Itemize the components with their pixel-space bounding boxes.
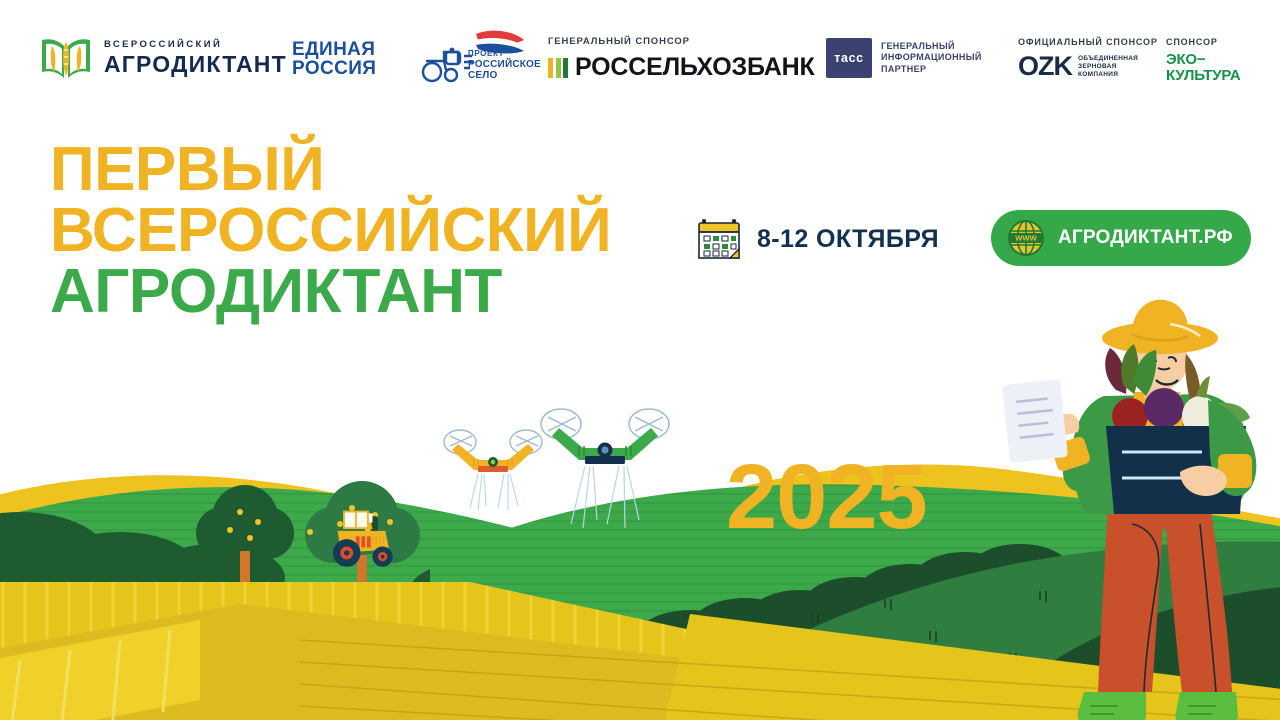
event-date: 8-12 ОКТЯБРЯ	[697, 216, 939, 262]
rosselkhozbank-bars-icon	[548, 58, 568, 78]
ecoculture-logo[interactable]: СПОНСОР ЭКО− КУЛЬТУРА	[1166, 37, 1241, 83]
rosselkhozbank-superline: ГЕНЕРАЛЬНЫЙ СПОНСОР	[548, 36, 815, 47]
agrodiktant-logo[interactable]: ВСЕРОССИЙСКИЙ АГРОДИКТАНТ	[38, 32, 287, 84]
headline-line3: АГРОДИКТАНТ	[50, 262, 611, 323]
svg-text:WWW: WWW	[1015, 234, 1037, 243]
ozk-line1: ОБЪЕДИНЕННАЯ	[1078, 55, 1138, 63]
russian-village-line2: РОССИЙСКОЕ	[468, 59, 541, 70]
tass-badge-label: тасс	[834, 51, 863, 65]
ozk-superline: ОФИЦИАЛЬНЫЙ СПОНСОР	[1018, 37, 1158, 47]
agrodiktant-superline: ВСЕРОССИЙСКИЙ	[104, 40, 287, 50]
ozk-logo[interactable]: ОФИЦИАЛЬНЫЙ СПОНСОР OZK ОБЪЕДИНЕННАЯ ЗЕР…	[1018, 37, 1158, 80]
russian-village-line1: ПРОЕКТ	[468, 50, 541, 59]
headline-line1: ПЕРВЫЙ	[50, 140, 611, 201]
agrodiktant-wordmark: АГРОДИКТАНТ	[104, 53, 287, 76]
tractor-illustration	[333, 511, 393, 567]
yellow-drone-illustration	[444, 430, 542, 510]
ecoculture-line2: КУЛЬТУРА	[1166, 68, 1241, 84]
poster-root: 2025 ВСЕРОССИЙСКИЙ АГРОДИКТАН	[0, 0, 1280, 720]
sponsor-bar: ВСЕРОССИЙСКИЙ АГРОДИКТАНТ ЕДИНАЯ РОССИЯ	[0, 0, 1280, 108]
rosselkhozbank-logo[interactable]: ГЕНЕРАЛЬНЫЙ СПОНСОР РОССЕЛЬХОЗБАНК	[548, 36, 815, 82]
landscape-illustration	[0, 0, 1280, 720]
ecoculture-line1: ЭКО−	[1166, 52, 1241, 68]
open-book-wheat-icon	[38, 32, 94, 84]
event-date-text: 8-12 ОКТЯБРЯ	[757, 225, 939, 254]
russian-village-project-logo[interactable]: ПРОЕКТ РОССИЙСКОЕ СЕЛО	[420, 30, 538, 92]
globe-www-icon: WWW	[1007, 219, 1045, 257]
website-button[interactable]: WWW АГРОДИКТАНТ.РФ	[991, 210, 1251, 266]
tass-line1: ГЕНЕРАЛЬНЫЙ	[881, 41, 982, 53]
year-label: 2025	[726, 445, 927, 550]
ozk-line3: КОМПАНИЯ	[1078, 71, 1138, 79]
calendar-icon	[697, 216, 741, 262]
united-russia-line2: РОССИЯ	[292, 59, 376, 78]
ozk-line2: ЗЕРНОВАЯ	[1078, 63, 1138, 71]
tass-line3: ПАРТНЕР	[881, 64, 982, 76]
rosselkhozbank-wordmark: РОССЕЛЬХОЗБАНК	[575, 53, 815, 82]
page-title: ПЕРВЫЙ ВСЕРОССИЙСКИЙ АГРОДИКТАНТ	[50, 140, 611, 322]
tass-badge: тасс	[826, 38, 872, 78]
russian-village-line3: СЕЛО	[468, 70, 541, 81]
tass-line2: ИНФОРМАЦИОННЫЙ	[881, 52, 982, 64]
ozk-wordmark: OZK	[1018, 53, 1072, 80]
ecoculture-superline: СПОНСОР	[1166, 37, 1241, 47]
headline-line2: ВСЕРОССИЙСКИЙ	[50, 201, 611, 262]
green-drone-illustration	[541, 409, 669, 528]
tass-logo[interactable]: тасс ГЕНЕРАЛЬНЫЙ ИНФОРМАЦИОННЫЙ ПАРТНЕР	[826, 38, 982, 78]
united-russia-logo[interactable]: ЕДИНАЯ РОССИЯ	[292, 40, 376, 79]
website-button-label: АГРОДИКТАНТ.РФ	[1058, 227, 1233, 249]
united-russia-line1: ЕДИНАЯ	[292, 40, 376, 59]
farmer-illustration	[1002, 300, 1256, 720]
apple-trees	[196, 481, 420, 592]
